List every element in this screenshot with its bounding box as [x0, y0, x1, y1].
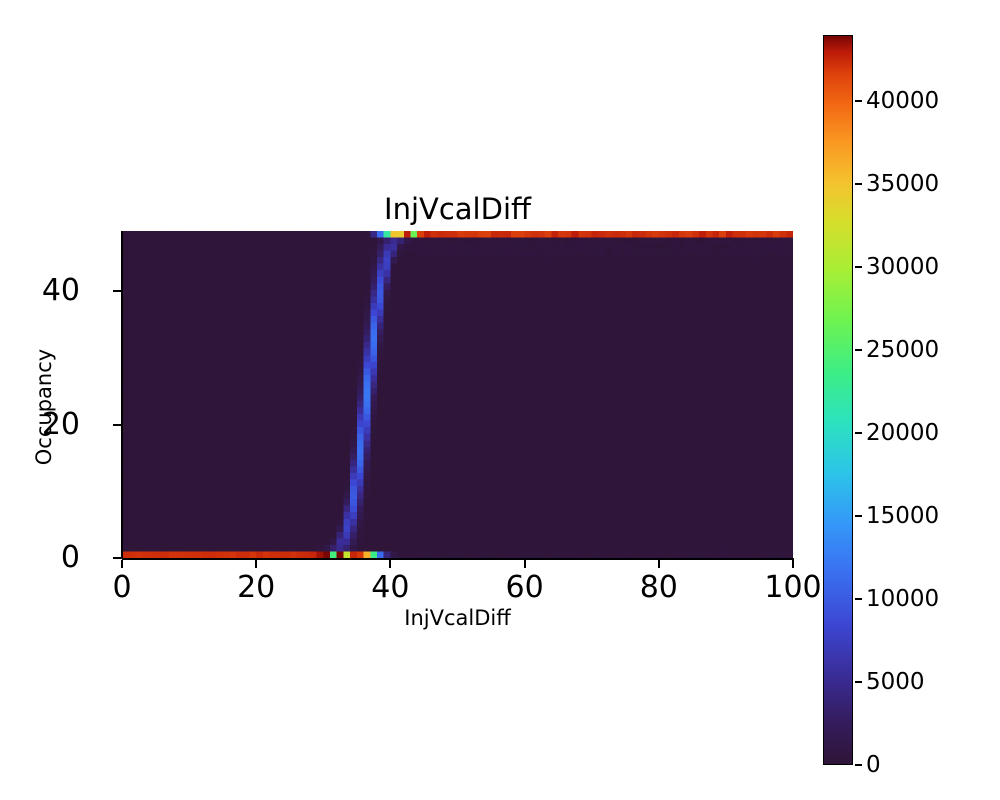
colorbar[interactable] [823, 35, 853, 765]
x-axis-tick-label: 20 [237, 570, 275, 606]
y-axis-tick [113, 290, 121, 292]
x-axis-tick-label: 60 [506, 570, 544, 606]
x-axis-tick [792, 560, 794, 568]
colorbar-tick-label: 20000 [866, 419, 939, 447]
x-axis-tick-label: 80 [640, 570, 678, 606]
x-axis-tick-label: 0 [112, 570, 131, 606]
axis-spine-left [121, 231, 123, 559]
page-title: InjVcalDiff [122, 192, 793, 226]
colorbar-tick [855, 432, 862, 434]
colorbar-tick-label: 30000 [866, 253, 939, 281]
heatmap-image [122, 231, 793, 558]
axis-spine-bottom [122, 558, 794, 560]
heatmap-plot-area[interactable] [122, 231, 793, 558]
x-axis-tick [121, 560, 123, 568]
y-axis-label: Occupancy [31, 257, 57, 557]
y-axis-tick [113, 424, 121, 426]
figure-canvas: InjVcalDiff 020406080100 InjVcalDiff 020… [0, 0, 1000, 800]
colorbar-tick [855, 266, 862, 268]
x-axis-tick-label: 40 [371, 570, 409, 606]
x-axis-tick [255, 560, 257, 568]
colorbar-tick-label: 15000 [866, 502, 939, 530]
colorbar-tick [855, 349, 862, 351]
x-axis-tick-label: 100 [764, 570, 821, 606]
colorbar-tick [855, 681, 862, 683]
colorbar-tick-label: 40000 [866, 87, 939, 115]
colorbar-tick [855, 183, 862, 185]
x-axis-label: InjVcalDiff [122, 605, 793, 631]
y-axis-tick-label: 0 [61, 540, 80, 576]
colorbar-tick [855, 764, 862, 766]
x-axis-tick [389, 560, 391, 568]
x-axis-tick [658, 560, 660, 568]
colorbar-tick-label: 0 [866, 751, 881, 779]
colorbar-tick-label: 10000 [866, 585, 939, 613]
colorbar-tick [855, 100, 862, 102]
colorbar-tick-label: 25000 [866, 336, 939, 364]
colorbar-tick-label: 5000 [866, 668, 925, 696]
colorbar-tick-label: 35000 [866, 170, 939, 198]
y-axis-tick [113, 557, 121, 559]
colorbar-tick [855, 515, 862, 517]
x-axis-tick [524, 560, 526, 568]
colorbar-gradient [824, 36, 852, 764]
colorbar-tick [855, 598, 862, 600]
